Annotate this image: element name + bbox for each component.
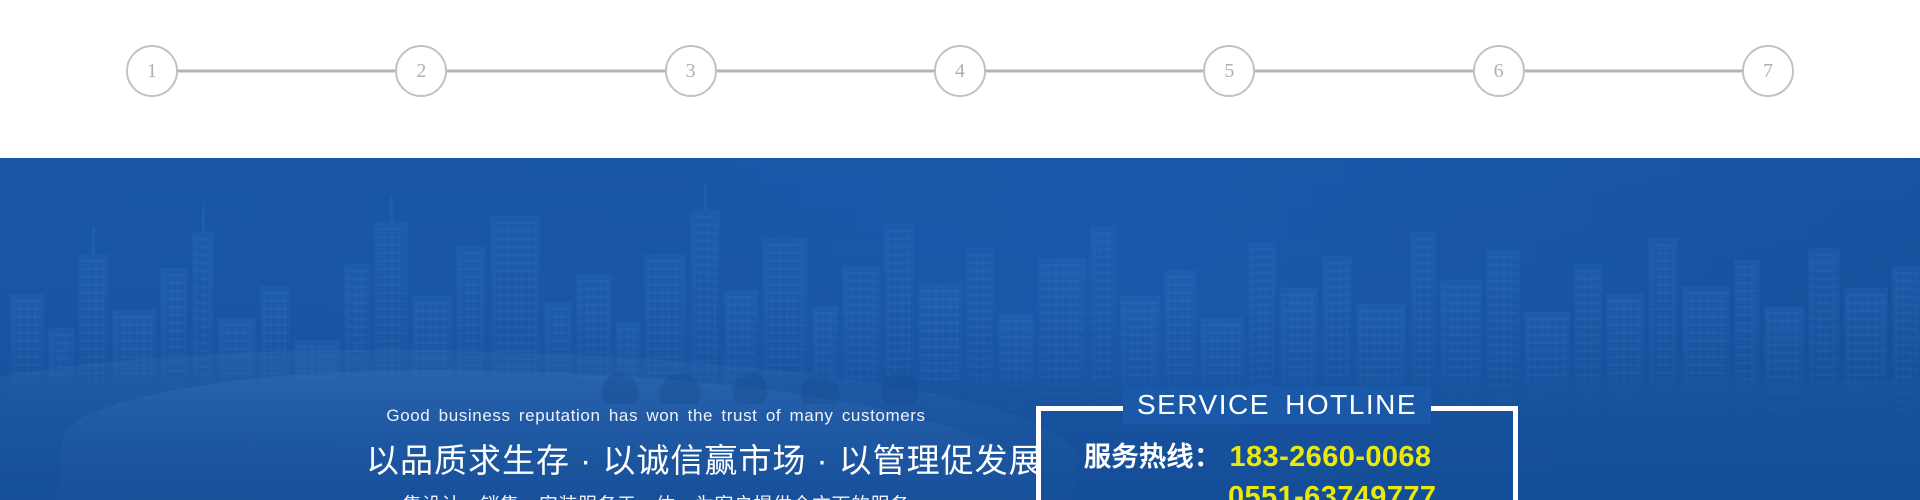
promo-banner: Good business reputation has won the tru… bbox=[0, 158, 1920, 500]
step-label-5: 5 bbox=[1224, 61, 1234, 81]
slogan-block: Good business reputation has won the tru… bbox=[366, 406, 946, 500]
step-label-2: 2 bbox=[416, 61, 426, 81]
step-label-1: 1 bbox=[147, 61, 157, 81]
step-node-5[interactable]: 5 bbox=[1203, 45, 1255, 97]
step-node-1[interactable]: 1 bbox=[126, 45, 178, 97]
step-label-6: 6 bbox=[1494, 61, 1504, 81]
slogan-subtext: 集设计、销售、安装服务于一体，为客户提供全方面的服务 bbox=[366, 494, 946, 500]
banner-content: Good business reputation has won the tru… bbox=[0, 158, 1920, 500]
page-root: 1 2 3 4 5 6 7 bbox=[0, 0, 1920, 500]
slogan-english: Good business reputation has won the tru… bbox=[366, 406, 946, 426]
step-node-6[interactable]: 6 bbox=[1473, 45, 1525, 97]
step-node-2[interactable]: 2 bbox=[395, 45, 447, 97]
step-label-7: 7 bbox=[1763, 61, 1773, 81]
slogan-main-heading: 以品质求生存 · 以诚信赢市场 · 以管理促发展 bbox=[366, 440, 946, 481]
step-node-7[interactable]: 7 bbox=[1742, 45, 1794, 97]
hotline-row-primary: 服务热线： 183-2660-0068 bbox=[1050, 440, 1504, 474]
hotline-number-secondary[interactable]: 0551-63749777 bbox=[1228, 480, 1436, 500]
step-label-4: 4 bbox=[955, 61, 965, 81]
step-node-4[interactable]: 4 bbox=[934, 45, 986, 97]
process-step-bar: 1 2 3 4 5 6 7 bbox=[0, 0, 1920, 158]
step-node-3[interactable]: 3 bbox=[665, 45, 717, 97]
step-label-3: 3 bbox=[686, 61, 696, 81]
hotline-row-secondary: 0551-63749777 bbox=[1050, 480, 1504, 500]
hotline-label: 服务热线： bbox=[1050, 442, 1222, 474]
service-hotline-box: SERVICE HOTLINE 服务热线： 183-2660-0068 0551… bbox=[1036, 406, 1518, 500]
hotline-number-primary[interactable]: 183-2660-0068 bbox=[1230, 440, 1432, 474]
hotline-numbers: 服务热线： 183-2660-0068 0551-63749777 bbox=[1036, 440, 1518, 500]
